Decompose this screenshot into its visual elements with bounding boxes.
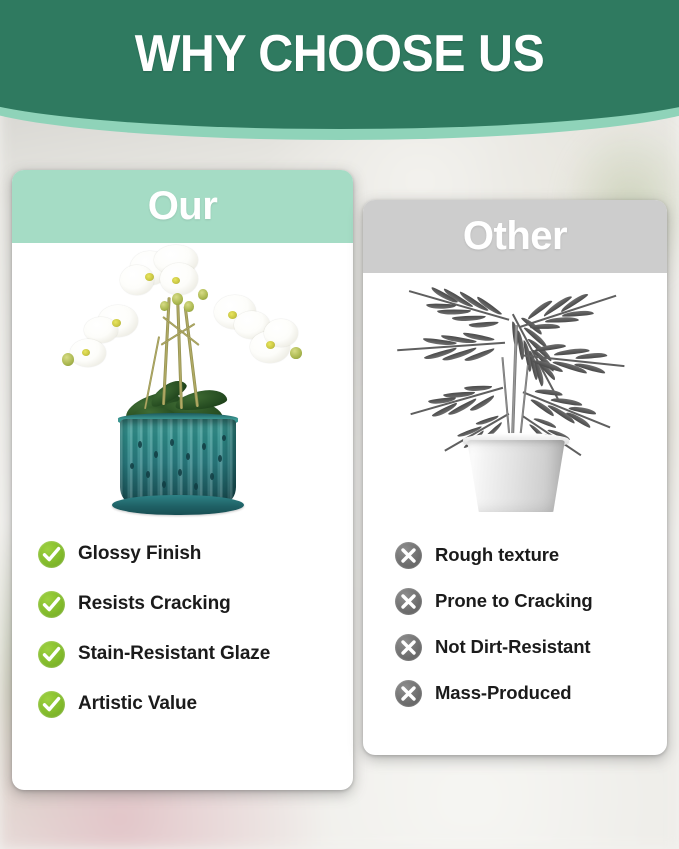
header-banner: WHY CHOOSE US — [0, 0, 679, 150]
feature-row: Not Dirt-Resistant — [363, 624, 667, 670]
feature-label: Mass-Produced — [435, 682, 571, 704]
feature-row: Resists Cracking — [12, 579, 353, 629]
infographic-page: WHY CHOOSE US Our — [0, 0, 679, 849]
x-circle-icon — [395, 542, 422, 569]
feature-label: Not Dirt-Resistant — [435, 636, 590, 658]
feature-label: Rough texture — [435, 544, 559, 566]
product-image-ours — [12, 243, 353, 523]
card-header-ours: Our — [12, 170, 353, 243]
feature-row: Prone to Cracking — [363, 578, 667, 624]
feature-row: Glossy Finish — [12, 529, 353, 579]
x-circle-icon — [395, 634, 422, 661]
feature-label: Resists Cracking — [78, 593, 231, 615]
check-circle-icon — [38, 541, 65, 568]
product-image-other — [363, 273, 667, 526]
feature-label: Prone to Cracking — [435, 590, 593, 612]
feature-list-other: Rough texture Prone to Cracking Not Dirt… — [363, 526, 667, 716]
check-circle-icon — [38, 641, 65, 668]
comparison-card-other: Other — [363, 200, 667, 755]
feature-list-ours: Glossy Finish Resists Cracking Stain-Res… — [12, 523, 353, 729]
palm-plant-illustration — [363, 273, 667, 526]
card-heading-label: Our — [148, 184, 218, 229]
card-header-other: Other — [363, 200, 667, 273]
orchid-plant-illustration — [12, 243, 353, 523]
check-circle-icon — [38, 591, 65, 618]
feature-row: Stain-Resistant Glaze — [12, 629, 353, 679]
card-heading-label: Other — [463, 214, 567, 259]
x-circle-icon — [395, 588, 422, 615]
x-circle-icon — [395, 680, 422, 707]
feature-row: Artistic Value — [12, 679, 353, 729]
feature-row: Rough texture — [363, 532, 667, 578]
feature-label: Glossy Finish — [78, 543, 201, 565]
feature-label: Stain-Resistant Glaze — [78, 643, 270, 665]
page-title: WHY CHOOSE US — [24, 24, 655, 84]
check-circle-icon — [38, 691, 65, 718]
feature-row: Mass-Produced — [363, 670, 667, 716]
comparison-card-ours: Our — [12, 170, 353, 790]
feature-label: Artistic Value — [78, 693, 197, 715]
